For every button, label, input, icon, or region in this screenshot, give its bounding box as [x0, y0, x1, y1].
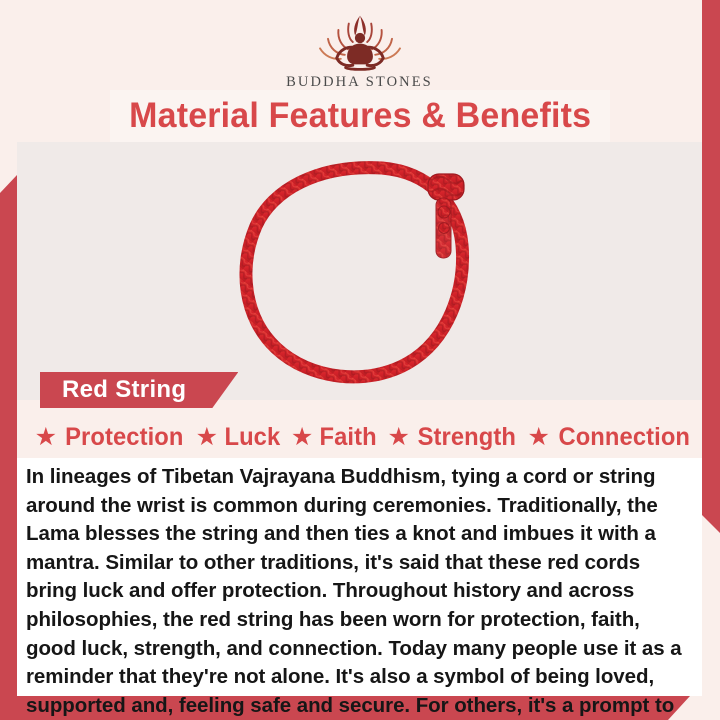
star-icon: ★ — [291, 425, 313, 450]
title-banner: Material Features & Benefits — [110, 90, 610, 142]
description-block: In lineages of Tibetan Vajrayana Buddhis… — [17, 458, 702, 696]
red-braided-cord-bracelet-icon — [222, 150, 498, 390]
benefit-label: Protection — [65, 423, 183, 452]
benefit-item-faith: ★ Faith — [282, 423, 379, 452]
description-paragraph: In lineages of Tibetan Vajrayana Buddhis… — [26, 463, 687, 720]
decorative-left-bar — [0, 175, 17, 720]
lotus-meditation-icon — [312, 12, 408, 72]
decorative-right-bar — [702, 0, 720, 533]
product-name-label: Red String — [62, 376, 186, 404]
benefit-item-strength: ★ Strength — [378, 423, 518, 452]
benefit-item-protection: ★ Protection — [26, 423, 187, 452]
benefit-label: Strength — [417, 423, 515, 452]
product-name-ribbon: Red String — [40, 372, 238, 408]
benefit-label: Faith — [320, 423, 377, 452]
brand-name: BUDDHA STONES — [286, 74, 433, 91]
brand-logo: BUDDHA STONES — [17, 12, 702, 91]
benefits-list: ★ Protection ★ Luck ★ Faith ★ Strength ★… — [17, 416, 702, 458]
star-icon: ★ — [196, 425, 218, 450]
benefit-item-connection: ★ Connection — [518, 423, 693, 452]
product-image-stage — [17, 142, 702, 400]
star-icon: ★ — [527, 425, 549, 450]
product-feature-poster: BUDDHA STONES Material Features & Benefi… — [0, 0, 720, 720]
benefit-label: Connection — [558, 423, 690, 452]
benefit-label: Luck — [225, 423, 281, 452]
benefit-item-luck: ★ Luck — [187, 423, 282, 452]
star-icon: ★ — [387, 425, 409, 450]
star-icon: ★ — [35, 425, 57, 450]
page-title: Material Features & Benefits — [129, 96, 591, 136]
